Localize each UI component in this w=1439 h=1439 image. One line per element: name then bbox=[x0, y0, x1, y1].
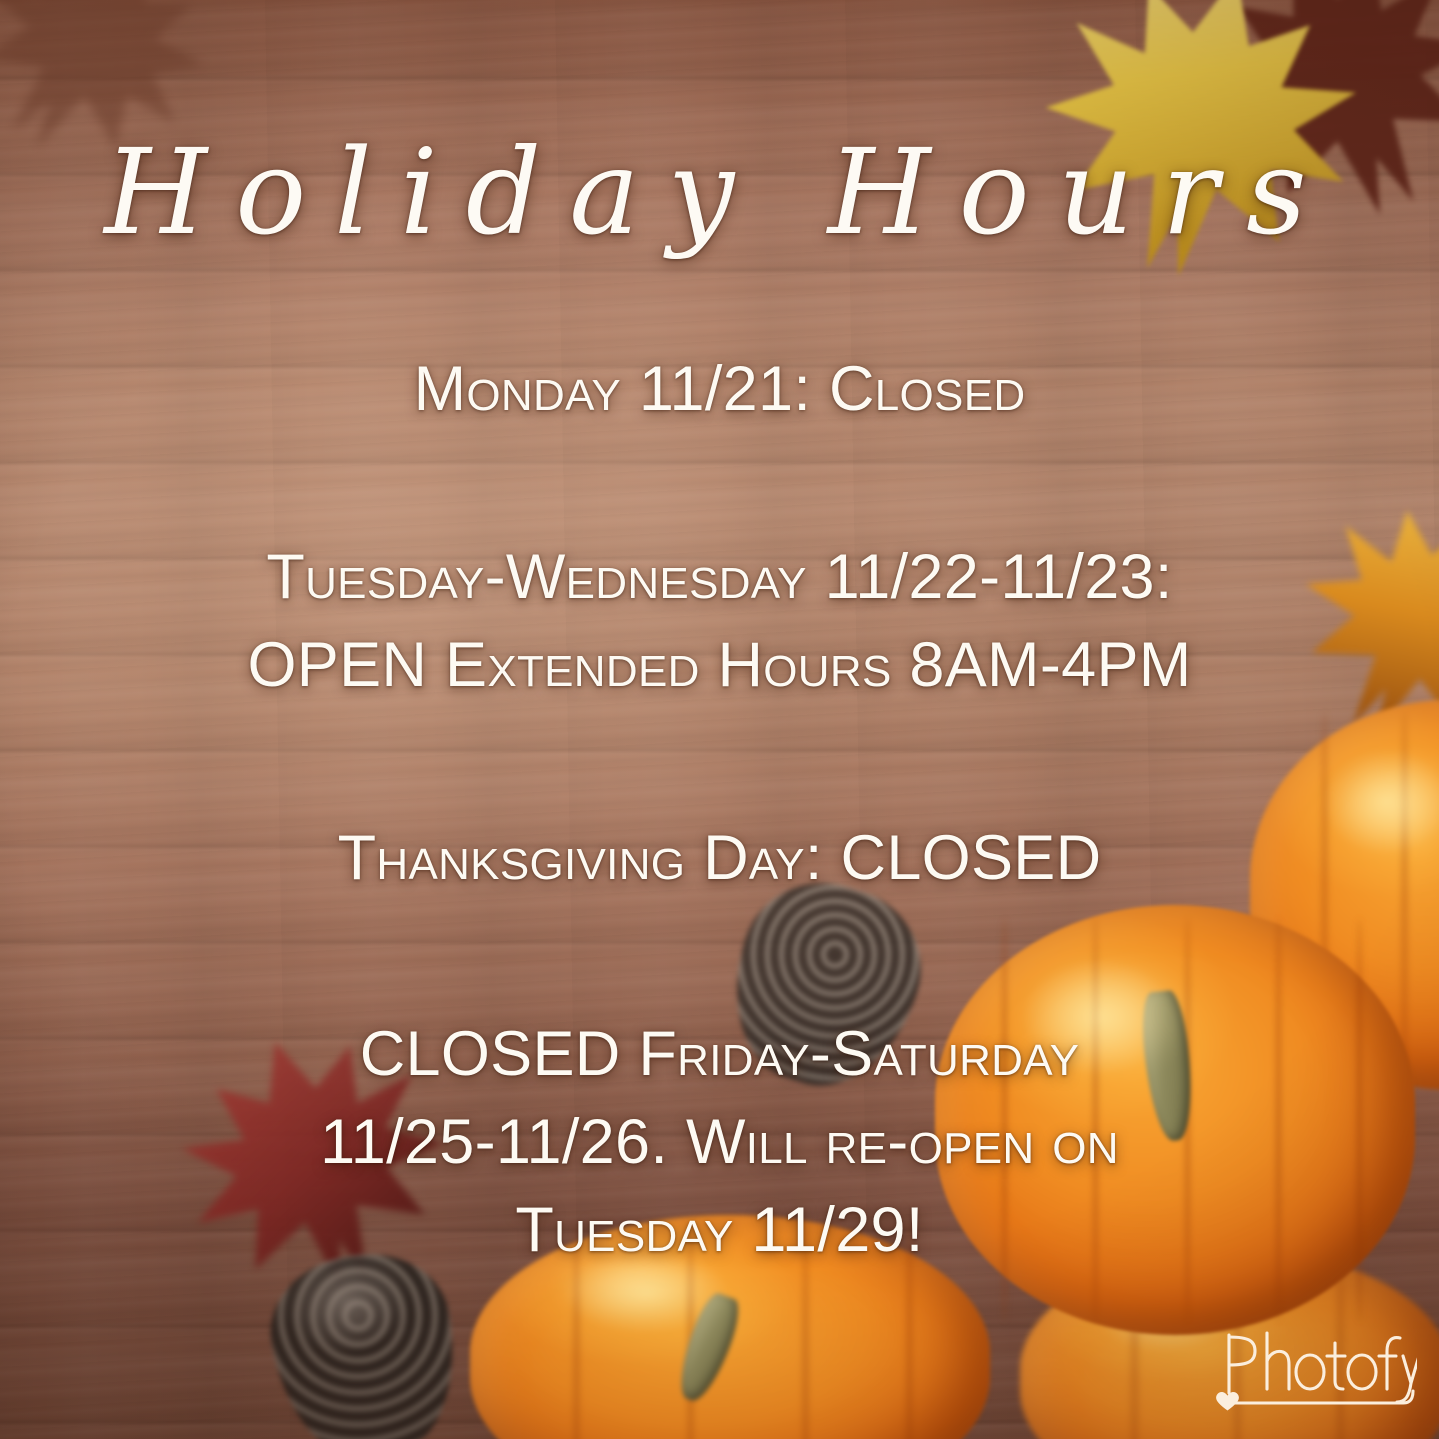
poster-content: Holiday Hours Monday 11/21: Closed Tuesd… bbox=[0, 0, 1439, 1439]
hours-line-tue-wed-hours: OPEN Extended Hours 8AM-4PM bbox=[0, 621, 1439, 709]
hours-line-reopen-dates: 11/25-11/26. Will re-open on bbox=[0, 1098, 1439, 1186]
hours-line-monday: Monday 11/21: Closed bbox=[0, 345, 1439, 433]
photofy-watermark bbox=[1207, 1327, 1417, 1417]
heart-icon bbox=[1216, 1392, 1239, 1411]
holiday-hours-poster: Holiday Hours Monday 11/21: Closed Tuesd… bbox=[0, 0, 1439, 1439]
spacer bbox=[0, 433, 1439, 533]
page-title: Holiday Hours bbox=[0, 128, 1439, 258]
hours-list: Monday 11/21: Closed Tuesday-Wednesday 1… bbox=[0, 345, 1439, 1274]
spacer bbox=[0, 709, 1439, 814]
photofy-logo-icon bbox=[1207, 1327, 1417, 1417]
spacer bbox=[0, 902, 1439, 1010]
hours-line-tue-wed-dates: Tuesday-Wednesday 11/22-11/23: bbox=[0, 533, 1439, 621]
hours-line-thanksgiving: Thanksgiving Day: CLOSED bbox=[0, 814, 1439, 902]
hours-line-fri-sat: CLOSED Friday-Saturday bbox=[0, 1010, 1439, 1098]
hours-line-reopen-day: Tuesday 11/29! bbox=[0, 1186, 1439, 1274]
